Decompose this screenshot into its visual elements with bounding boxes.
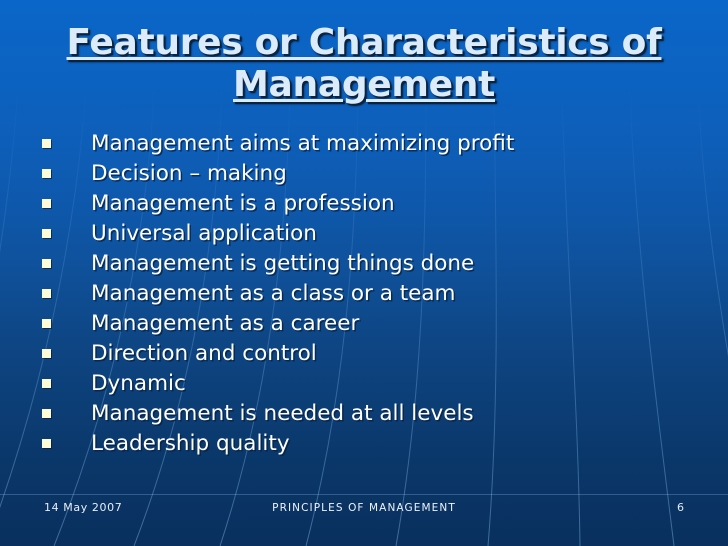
square-bullet-icon — [42, 409, 51, 418]
list-item-label: Universal application — [91, 221, 317, 246]
list-item: Leadership quality — [0, 428, 728, 458]
list-item: Management is getting things done — [0, 248, 728, 278]
square-bullet-icon — [42, 199, 51, 208]
list-item: Universal application — [0, 218, 728, 248]
list-item-label: Management as a career — [91, 311, 359, 336]
list-item: Management aims at maximizing profit — [0, 128, 728, 158]
list-item: Management as a class or a team — [0, 278, 728, 308]
bullet-list: Management aims at maximizing profit Dec… — [0, 128, 728, 458]
list-item-label: Management aims at maximizing profit — [91, 131, 514, 156]
slide-number: 6 — [677, 501, 684, 514]
list-item-label: Decision – making — [91, 161, 287, 186]
slide-title: Features or Characteristics of Managemen… — [50, 22, 678, 107]
presentation-slide: Features or Characteristics of Managemen… — [0, 0, 728, 546]
list-item-label: Management is getting things done — [91, 251, 474, 276]
square-bullet-icon — [42, 349, 51, 358]
list-item: Management is a profession — [0, 188, 728, 218]
list-item: Management as a career — [0, 308, 728, 338]
square-bullet-icon — [42, 319, 51, 328]
footer-title: PRINCIPLES OF MANAGEMENT — [0, 502, 728, 514]
list-item-label: Direction and control — [91, 341, 317, 366]
square-bullet-icon — [42, 289, 51, 298]
list-item-label: Dynamic — [91, 371, 186, 396]
footer-divider — [0, 494, 728, 495]
list-item: Decision – making — [0, 158, 728, 188]
list-item: Direction and control — [0, 338, 728, 368]
square-bullet-icon — [42, 169, 51, 178]
list-item-label: Management is a profession — [91, 191, 395, 216]
square-bullet-icon — [42, 259, 51, 268]
square-bullet-icon — [42, 229, 51, 238]
list-item: Dynamic — [0, 368, 728, 398]
list-item-label: Leadership quality — [91, 431, 290, 456]
square-bullet-icon — [42, 139, 51, 148]
square-bullet-icon — [42, 379, 51, 388]
square-bullet-icon — [42, 439, 51, 448]
slide-title-text: Features or Characteristics of Managemen… — [67, 22, 662, 105]
list-item: Management is needed at all levels — [0, 398, 728, 428]
list-item-label: Management is needed at all levels — [91, 401, 474, 426]
list-item-label: Management as a class or a team — [91, 281, 456, 306]
slide-footer: 14 May 2007 PRINCIPLES OF MANAGEMENT 6 — [0, 498, 728, 528]
